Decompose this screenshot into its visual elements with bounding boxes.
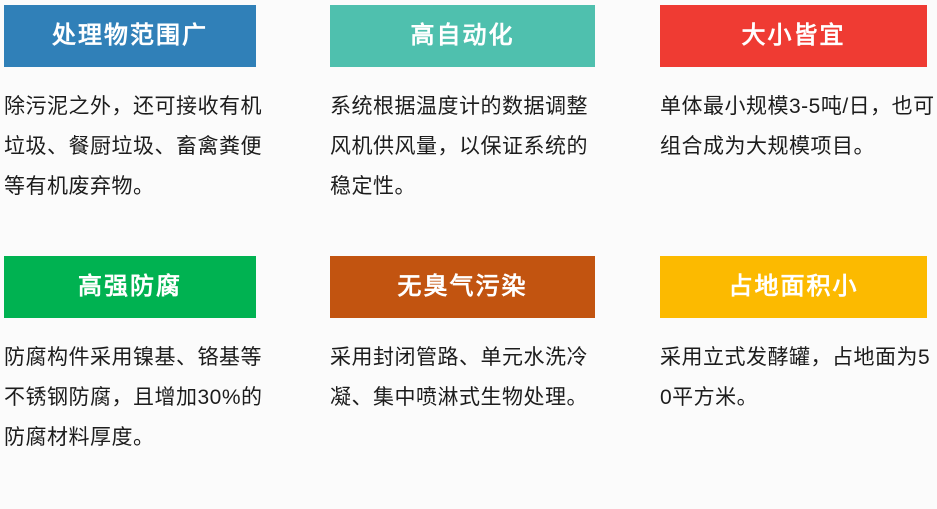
card-body-no-odor: 采用封闭管路、单元水洗冷凝、集中喷淋式生物处理。 <box>330 338 602 418</box>
card-title-small-footprint: 占地面积小 <box>729 275 859 299</box>
feature-card-anti-corrosion: 高强防腐 防腐构件采用镍基、铬基等不锈钢防腐，且增加30%的防腐材料厚度。 <box>4 256 304 506</box>
card-header-high-automation: 高自动化 <box>330 5 595 67</box>
card-title-processing-scope: 处理物范围广 <box>52 24 208 48</box>
feature-card-no-odor: 无臭气污染 采用封闭管路、单元水洗冷凝、集中喷淋式生物处理。 <box>330 256 630 506</box>
card-body-scale-flexible: 单体最小规模3-5吨/日，也可组合成为大规模项目。 <box>660 87 937 167</box>
card-body-small-footprint: 采用立式发酵罐，占地面为50平方米。 <box>660 338 937 418</box>
feature-card-scale-flexible: 大小皆宜 单体最小规模3-5吨/日，也可组合成为大规模项目。 <box>660 5 937 240</box>
card-header-small-footprint: 占地面积小 <box>660 256 927 318</box>
feature-card-small-footprint: 占地面积小 采用立式发酵罐，占地面为50平方米。 <box>660 256 937 506</box>
feature-card-processing-scope: 处理物范围广 除污泥之外，还可接收有机垃圾、餐厨垃圾、畜禽粪便等有机废弃物。 <box>4 5 304 240</box>
card-body-anti-corrosion: 防腐构件采用镍基、铬基等不锈钢防腐，且增加30%的防腐材料厚度。 <box>4 338 272 458</box>
card-title-no-odor: 无臭气污染 <box>398 275 528 299</box>
card-header-processing-scope: 处理物范围广 <box>4 5 256 67</box>
card-header-no-odor: 无臭气污染 <box>330 256 595 318</box>
card-title-anti-corrosion: 高强防腐 <box>78 275 182 299</box>
card-body-high-automation: 系统根据温度计的数据调整风机供风量，以保证系统的稳定性。 <box>330 87 602 207</box>
card-header-anti-corrosion: 高强防腐 <box>4 256 256 318</box>
card-body-processing-scope: 除污泥之外，还可接收有机垃圾、餐厨垃圾、畜禽粪便等有机废弃物。 <box>4 87 272 207</box>
card-title-scale-flexible: 大小皆宜 <box>742 24 846 48</box>
card-header-scale-flexible: 大小皆宜 <box>660 5 927 67</box>
feature-card-grid: 处理物范围广 除污泥之外，还可接收有机垃圾、餐厨垃圾、畜禽粪便等有机废弃物。 高… <box>0 0 937 509</box>
card-title-high-automation: 高自动化 <box>411 24 515 48</box>
feature-card-high-automation: 高自动化 系统根据温度计的数据调整风机供风量，以保证系统的稳定性。 <box>330 5 630 240</box>
